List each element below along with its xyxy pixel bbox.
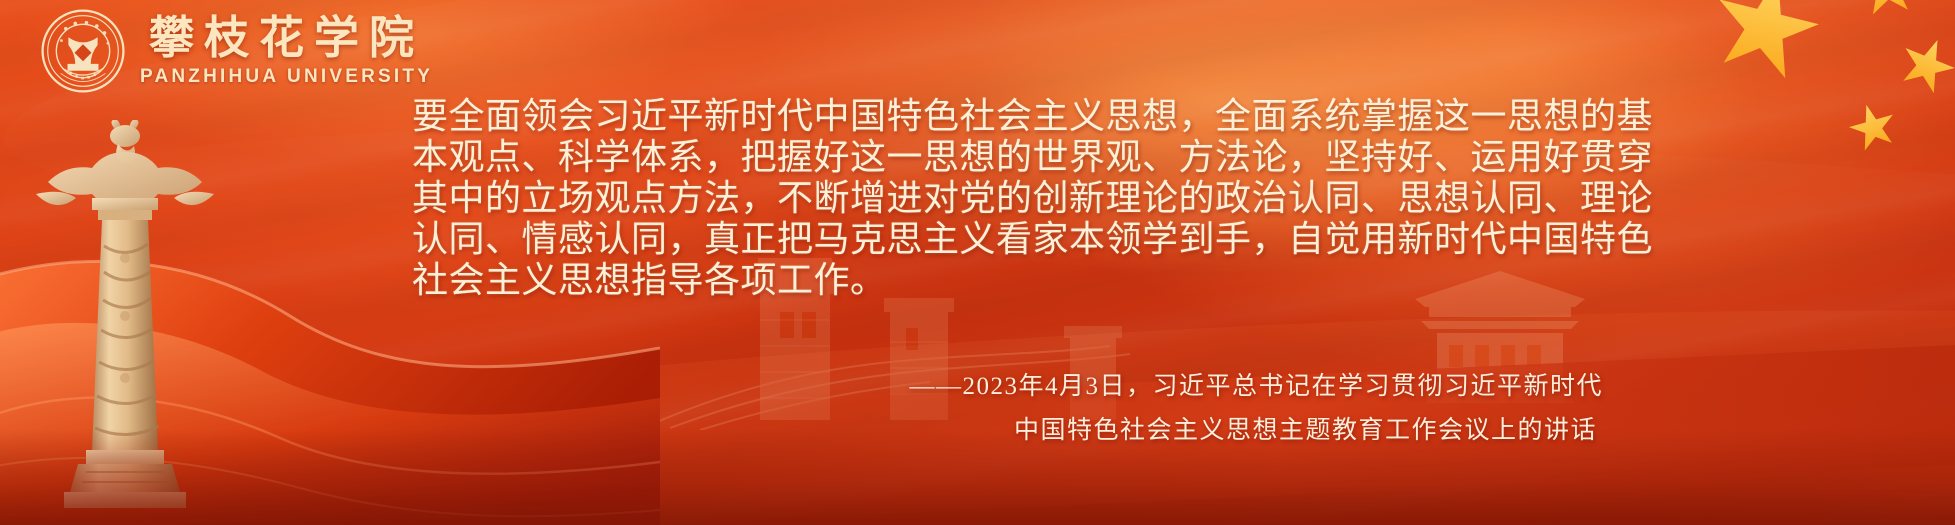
- university-quote-banner: 攀枝花学院 PANZHIHUA UNIVERSITY 要全面领会习近平新时代中国…: [0, 0, 1955, 525]
- university-logo[interactable]: 攀枝花学院 PANZHIHUA UNIVERSITY: [40, 8, 433, 94]
- logo-name-en: PANZHIHUA UNIVERSITY: [140, 67, 433, 86]
- logo-name-cn: 攀枝花学院: [149, 16, 424, 61]
- university-seal-icon: [40, 8, 126, 94]
- quote-line: 要全面领会习近平新时代中国特色社会主义思想，全面系统掌握这一思想的基: [412, 96, 1592, 137]
- quote-line: 其中的立场观点方法，不断增进对党的创新理论的政治认同、思想认同、理论: [412, 178, 1592, 219]
- quote-block: 要全面领会习近平新时代中国特色社会主义思想，全面系统掌握这一思想的基 本观点、科…: [412, 96, 1592, 301]
- quote-line: 认同、情感认同，真正把马克思主义看家本领学到手，自觉用新时代中国特色: [412, 219, 1592, 260]
- quote-line: 本观点、科学体系，把握好这一思想的世界观、方法论，坚持好、运用好贯穿: [412, 137, 1592, 178]
- quote-attribution: ——2023年4月3日，习近平总书记在学习贯彻习近平新时代 中国特色社会主义思想…: [909, 365, 1603, 453]
- attribution-line-1: ——2023年4月3日，习近平总书记在学习贯彻习近平新时代: [909, 365, 1603, 409]
- quote-line: 社会主义思想指导各项工作。: [412, 260, 1592, 301]
- attribution-line-2: 中国特色社会主义思想主题教育工作会议上的讲话: [909, 409, 1603, 453]
